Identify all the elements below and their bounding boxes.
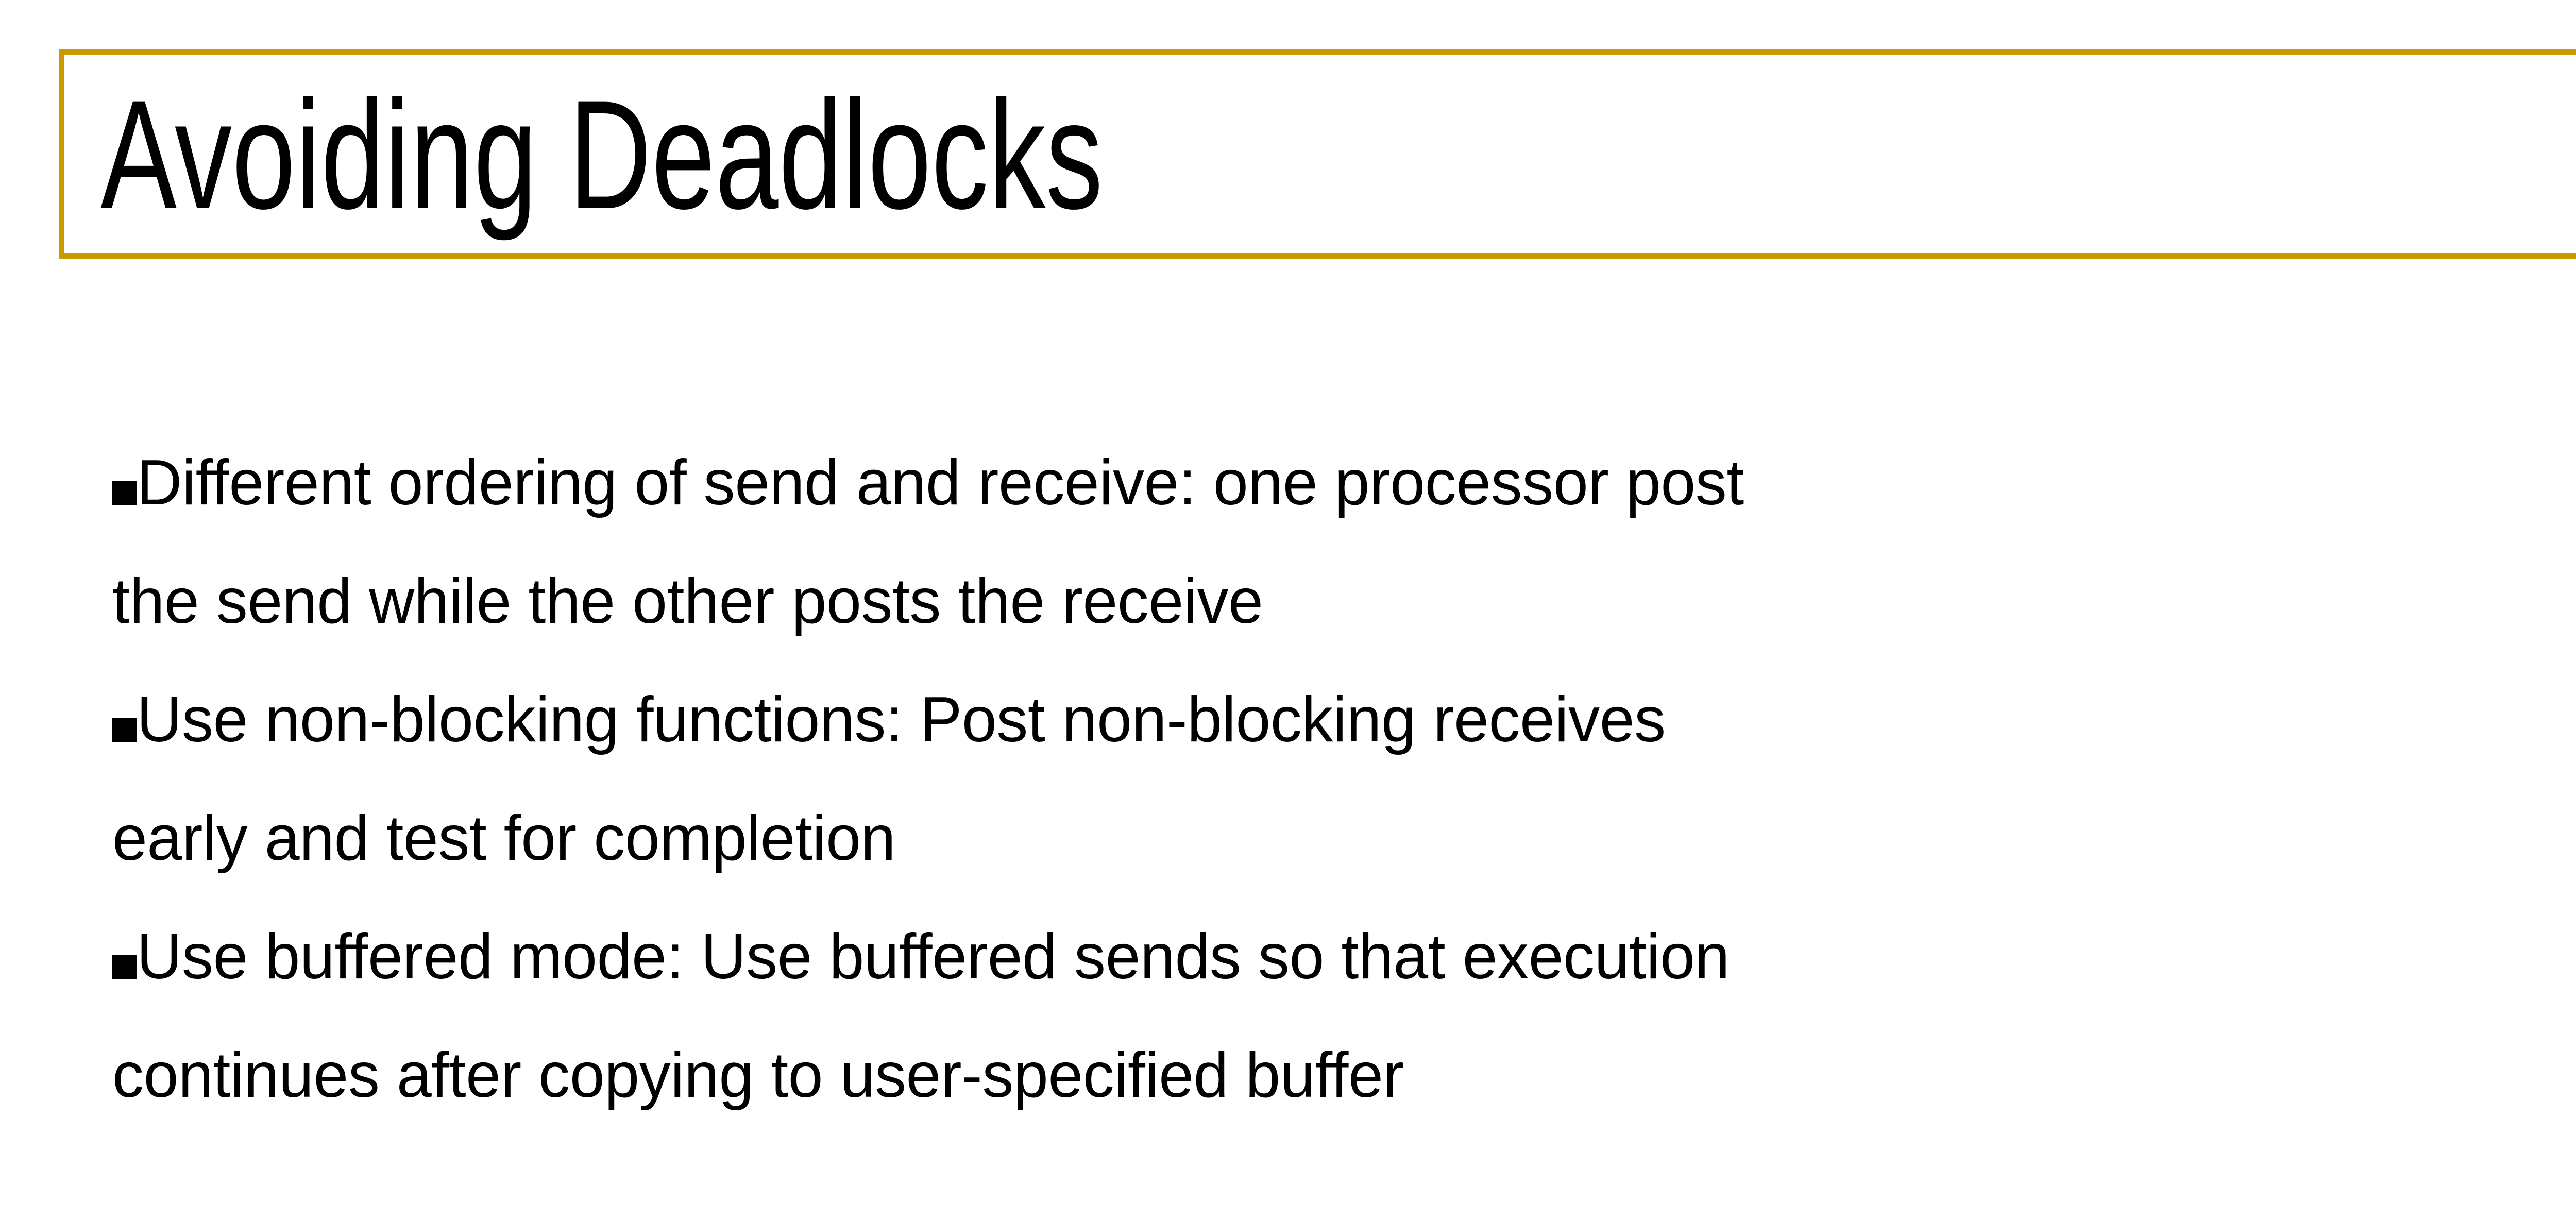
page-title: Avoiding Deadlocks	[100, 77, 2121, 232]
list-item-continuation: continues after copying to user-specifie…	[112, 1016, 2576, 1135]
square-bullet-icon	[112, 955, 137, 979]
list-item-continuation: the send while the other posts the recei…	[112, 542, 2576, 661]
list-item-text: continues after copying to user-specifie…	[112, 1040, 1404, 1111]
list-item-text: Use buffered mode: Use buffered sends so…	[137, 921, 1730, 992]
list-item-text: Use non-blocking functions: Post non-blo…	[137, 684, 1665, 755]
list-item: Use buffered mode: Use buffered sends so…	[112, 898, 2576, 1016]
body-text-block[interactable]: Different ordering of send and receive: …	[112, 424, 2576, 1135]
slide-canvas: Avoiding Deadlocks Different ordering of…	[0, 0, 2576, 1219]
square-bullet-icon	[112, 718, 137, 742]
list-item-text: early and test for completion	[112, 803, 895, 874]
list-item: Different ordering of send and receive: …	[112, 424, 2576, 542]
list-item-continuation: early and test for completion	[112, 779, 2576, 898]
list-item-text: the send while the other posts the recei…	[112, 566, 1263, 637]
list-item: Use non-blocking functions: Post non-blo…	[112, 661, 2576, 779]
square-bullet-icon	[112, 481, 137, 505]
list-item-text: Different ordering of send and receive: …	[137, 447, 1744, 518]
